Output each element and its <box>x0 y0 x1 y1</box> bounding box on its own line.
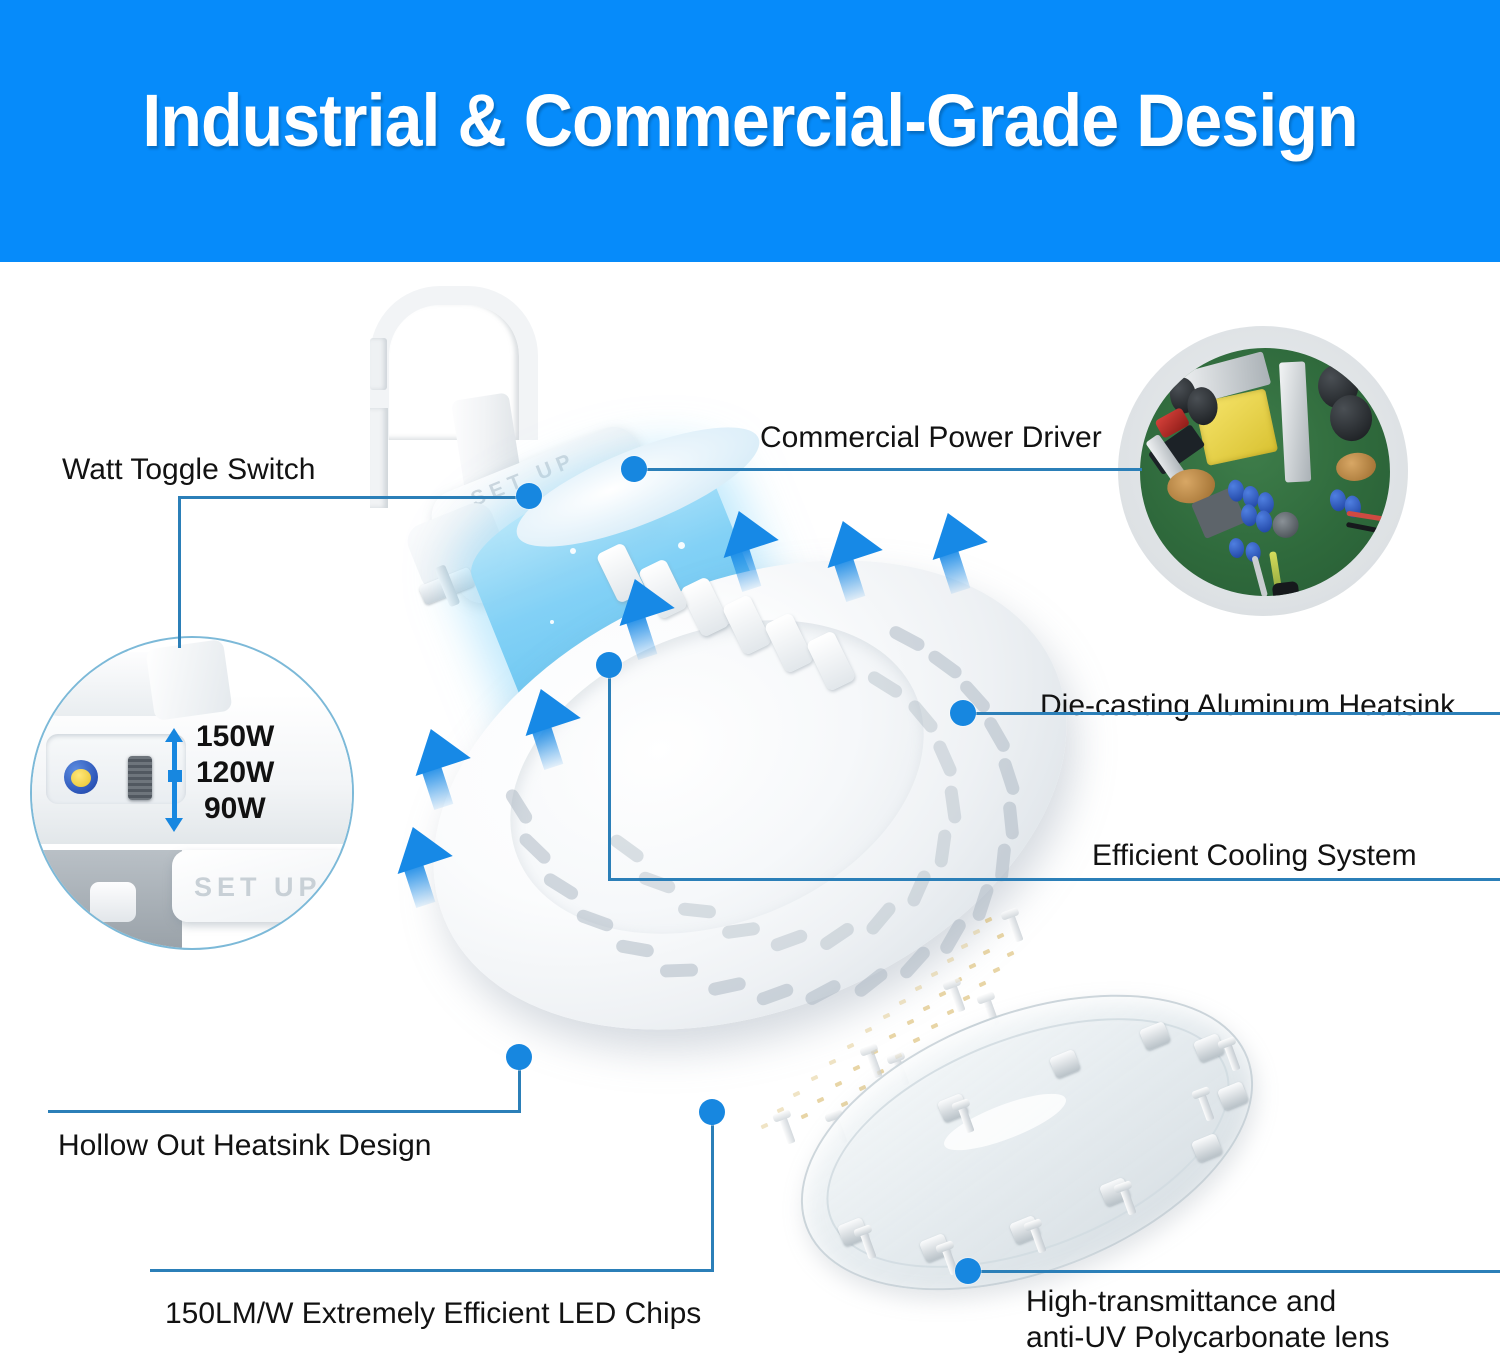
aluminum-heatsink <box>1279 361 1311 482</box>
callout-label-hollow-out-heatsink: Hollow Out Heatsink Design <box>58 1128 432 1165</box>
callout-line-watt-toggle-v <box>178 496 181 648</box>
hook-leg-left <box>370 408 388 508</box>
watt-toggle-switch-inset: SET UP <box>30 636 354 950</box>
callout-line-led-chips-h <box>150 1269 714 1272</box>
wattage-tick <box>168 770 182 782</box>
ceramic-capacitor <box>1228 537 1245 559</box>
callout-line-cooling-h <box>608 878 1500 881</box>
callout-label-polycarbonate-lens-line1: High-transmittance and <box>1026 1284 1336 1321</box>
arrow-up-icon <box>165 728 183 742</box>
black-wire <box>1346 522 1402 538</box>
mounting-hole <box>1271 510 1300 539</box>
callout-dot-polycarbonate-lens[interactable] <box>955 1258 981 1284</box>
white-wire <box>1251 555 1268 597</box>
callout-dot-hollow-out-heatsink[interactable] <box>506 1044 532 1070</box>
round-connector-icon <box>64 760 98 794</box>
arrow-down-icon <box>165 818 183 832</box>
polycarbonate-lens-image <box>790 985 1280 1315</box>
callout-line-polycarbonate-lens <box>978 1270 1500 1273</box>
callout-label-led-chips: 150LM/W Extremely Efficient LED Chips <box>165 1296 701 1333</box>
red-wire <box>1346 511 1402 525</box>
hook-tip <box>370 338 387 390</box>
glow-spark <box>570 548 576 554</box>
callout-label-commercial-power-driver: Commercial Power Driver <box>760 420 1102 457</box>
wattage-option-150w: 150W <box>196 722 274 752</box>
inset-cylinder <box>145 639 232 721</box>
hollow-out-vent <box>995 843 1012 882</box>
callout-label-polycarbonate-lens-line2: anti-UV Polycarbonate lens <box>1026 1320 1390 1357</box>
callout-label-die-casting-heatsink: Die-casting Aluminum Heatsink <box>1040 688 1455 725</box>
wattage-option-90w: 90W <box>204 794 266 824</box>
callout-line-cooling-v <box>608 665 611 881</box>
hollow-out-vent <box>660 963 698 977</box>
callout-dot-die-casting-heatsink[interactable] <box>950 700 976 726</box>
callout-line-die-casting-heatsink <box>962 712 1500 715</box>
header-banner: Industrial & Commercial-Grade Design <box>0 0 1500 262</box>
set-up-cover-inset-label: SET UP <box>194 872 322 903</box>
mounting-screw <box>1006 913 1023 942</box>
callout-line-watt-toggle-h <box>178 496 528 499</box>
callout-dot-commercial-power-driver[interactable] <box>621 456 647 482</box>
callout-line-hollow-h <box>48 1110 521 1113</box>
wire-grommet <box>1272 581 1300 606</box>
callout-dot-led-chips[interactable] <box>699 1099 725 1125</box>
callout-line-power-driver <box>632 468 1142 471</box>
page-title: Industrial & Commercial-Grade Design <box>60 78 1440 163</box>
commercial-power-driver-inset <box>1118 326 1408 616</box>
callout-label-efficient-cooling-system: Efficient Cooling System <box>1092 838 1417 875</box>
inset-knob <box>90 882 136 922</box>
callout-dot-watt-toggle-switch[interactable] <box>516 483 542 509</box>
glow-spark <box>550 620 554 624</box>
driver-pcb <box>1126 334 1404 611</box>
glow-spark <box>678 542 685 549</box>
wattage-option-120w: 120W <box>196 758 274 788</box>
wattage-slider-switch[interactable] <box>128 756 152 800</box>
callout-line-led-chips-v <box>711 1112 714 1272</box>
callout-dot-efficient-cooling-system[interactable] <box>596 652 622 678</box>
set-up-cover-inset: SET UP <box>172 850 352 922</box>
callout-label-watt-toggle-switch: Watt Toggle Switch <box>62 452 315 489</box>
ceramic-capacitor <box>1255 510 1274 534</box>
copper-inductor <box>1334 451 1377 484</box>
